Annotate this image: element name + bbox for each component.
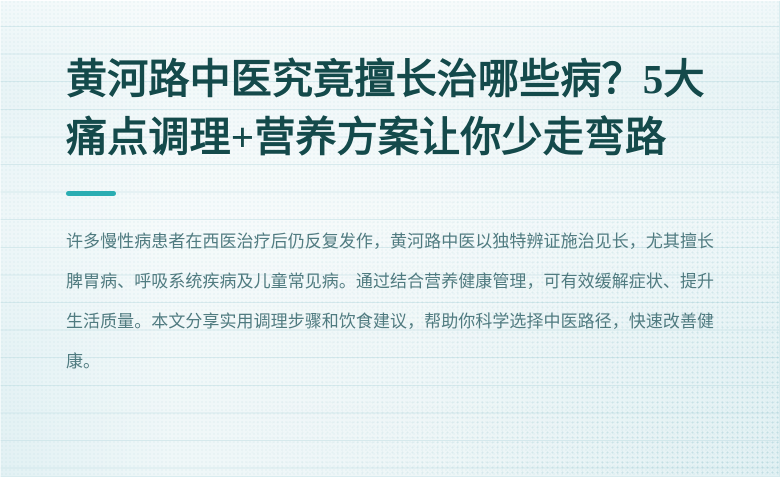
article-content: 黄河路中医究竟擅长治哪些病？5大痛点调理+营养方案让你少走弯路 许多慢性病患者在… — [0, 0, 780, 382]
page-title: 黄河路中医究竟擅长治哪些病？5大痛点调理+营养方案让你少走弯路 — [66, 0, 714, 166]
article-summary-paragraph: 许多慢性病患者在西医治疗后仍反复发作，黄河路中医以独特辨证施治见长，尤其擅长脾胃… — [66, 196, 714, 382]
article-card: 黄河路中医究竟擅长治哪些病？5大痛点调理+营养方案让你少走弯路 许多慢性病患者在… — [0, 0, 780, 477]
